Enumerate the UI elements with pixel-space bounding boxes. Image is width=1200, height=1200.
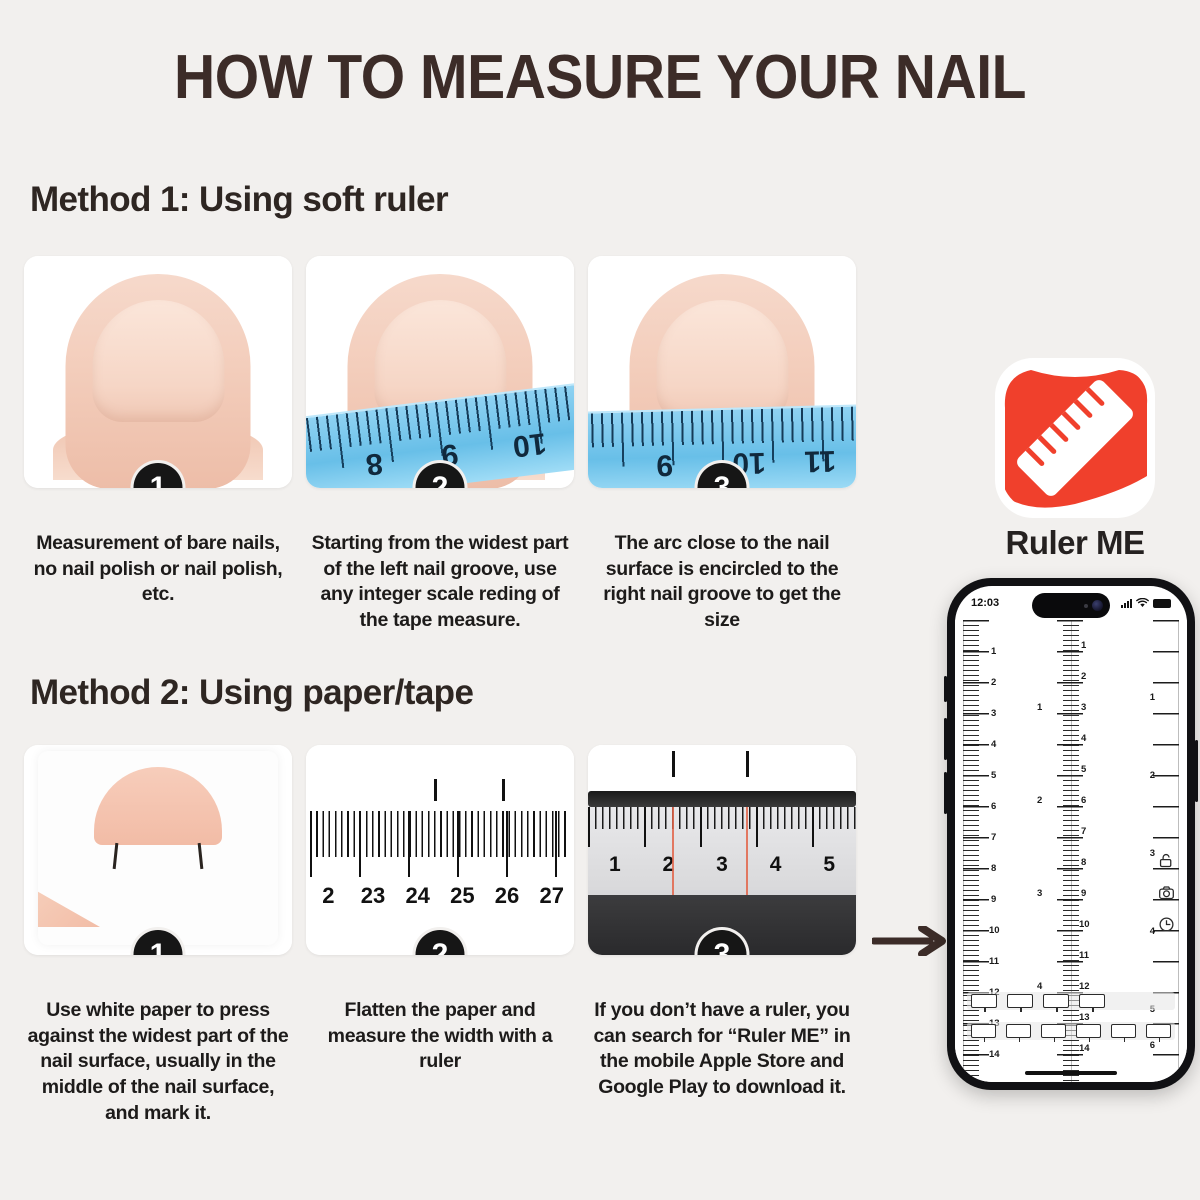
- measurement-widgets: [967, 992, 1175, 1052]
- step-caption: Starting from the widest part of the lef…: [306, 531, 574, 634]
- mute-switch[interactable]: [944, 676, 947, 702]
- measure-chip[interactable]: [1146, 1024, 1171, 1038]
- scale-number: 3: [991, 708, 996, 719]
- method-1-steps-row: 1 Measurement of bare nails, no nail pol…: [24, 256, 864, 634]
- infographic-page: HOW TO MEASURE YOUR NAIL Method 1: Using…: [0, 0, 1200, 1200]
- scale-number: 1: [1081, 640, 1086, 651]
- scale-number: 5: [1081, 764, 1086, 775]
- page-title: HOW TO MEASURE YOUR NAIL: [48, 42, 1152, 113]
- history-icon[interactable]: [1158, 916, 1175, 933]
- finger-corner: [38, 883, 100, 927]
- scale-number: 4: [1081, 733, 1086, 744]
- scale-number: 10: [1079, 919, 1090, 930]
- scale-number: 11: [1079, 950, 1089, 961]
- mark-pin: [502, 779, 505, 801]
- phone-screen: 12:03: [955, 586, 1187, 1082]
- dynamic-island: [1032, 593, 1110, 618]
- ruler-major-ticks: [310, 811, 570, 877]
- front-camera-icon: [1092, 600, 1103, 611]
- scale-number: 9: [991, 894, 996, 905]
- measure-chip[interactable]: [1076, 1024, 1101, 1038]
- ruler-number: 4: [749, 853, 803, 877]
- scale-number-alt: 1: [1037, 702, 1042, 713]
- step-card-m1-1: 1 Measurement of bare nails, no nail pol…: [24, 256, 292, 634]
- scale-number: 12: [1079, 981, 1090, 992]
- ruler-number: 3: [695, 853, 749, 877]
- scale-number: 11: [989, 956, 999, 967]
- photo-tape-on-nail-end: 9 10 11 3: [588, 256, 856, 488]
- nail-impression: [94, 767, 222, 845]
- photo-flat-ruler: 2 23 24 25 26 27 2: [306, 745, 574, 955]
- ruler-major-ticks: [588, 807, 856, 847]
- step-card-m2-1: 1 Use white paper to press against the w…: [24, 745, 292, 1127]
- battery-icon: [1153, 599, 1171, 608]
- scale-number: 2: [991, 677, 996, 688]
- ruler-numbers: 1 2 3 4 5: [588, 853, 856, 877]
- phone-ruler-illustration: 1 2 3 4 5: [588, 745, 856, 955]
- camera-icon[interactable]: [1158, 884, 1175, 901]
- scale-number: 6: [1081, 795, 1086, 806]
- photo-bare-nail: 1: [24, 256, 292, 488]
- photo-paper-press: 1: [24, 745, 292, 955]
- scale-number: 9: [1081, 888, 1086, 899]
- step-card-m2-2: 2 23 24 25 26 27 2 Flatten the paper and…: [306, 745, 574, 1127]
- scale-number: 3: [1081, 702, 1086, 713]
- scale-number: 7: [1081, 826, 1086, 837]
- step-caption: The arc close to the nail surface is enc…: [588, 531, 856, 634]
- measure-chip[interactable]: [1006, 1024, 1031, 1038]
- sensor-dot: [1084, 604, 1088, 608]
- method-2-steps-row: 1 Use white paper to press against the w…: [24, 745, 864, 1127]
- step-card-m1-3: 9 10 11 3 The arc close to the nail surf…: [588, 256, 856, 634]
- measure-chip[interactable]: [1079, 994, 1105, 1008]
- scale-number: 8: [1081, 857, 1086, 868]
- tape-number: 9: [656, 447, 674, 481]
- scale-number: 1: [991, 646, 996, 657]
- ruler-number: 23: [351, 883, 396, 909]
- step-caption: Flatten the paper and measure the width …: [306, 998, 574, 1075]
- scale-number-alt: 4: [1037, 981, 1042, 992]
- measure-chip[interactable]: [1043, 994, 1069, 1008]
- lock-icon[interactable]: [1158, 852, 1175, 869]
- paper-sheet: [38, 751, 278, 945]
- measure-chip[interactable]: [971, 1024, 996, 1038]
- home-indicator[interactable]: [1025, 1071, 1117, 1075]
- scale-number: 10: [989, 925, 1000, 936]
- thumb-illustration: 9 10 11: [588, 256, 856, 488]
- ruler-number: 27: [529, 883, 574, 909]
- status-icons: [1121, 598, 1171, 608]
- ruler-number: 25: [440, 883, 485, 909]
- device-edge: [588, 791, 856, 807]
- scale-number: 4: [1150, 926, 1155, 937]
- app-name-label: Ruler ME: [950, 524, 1200, 562]
- measure-chip[interactable]: [1041, 1024, 1066, 1038]
- ruler-number: 24: [395, 883, 440, 909]
- step-card-m2-3: 1 2 3 4 5 3 If you don’t have a ruler, y…: [588, 745, 856, 1127]
- ruler-number: 1: [588, 853, 642, 877]
- measure-chip[interactable]: [971, 994, 997, 1008]
- ruler-numbers: 2 23 24 25 26 27: [306, 883, 574, 909]
- phone-mockup: 12:03: [947, 578, 1195, 1090]
- volume-up-button[interactable]: [944, 718, 947, 760]
- step-caption: If you don’t have a ruler, you can searc…: [588, 998, 856, 1101]
- finger-shape: [66, 274, 251, 488]
- ruler-number: 26: [485, 883, 530, 909]
- cellular-signal-icon: [1121, 599, 1132, 608]
- measure-chip[interactable]: [1007, 994, 1033, 1008]
- scale-number: 7: [991, 832, 996, 843]
- mark-pin: [434, 779, 437, 801]
- ruler-number: 2: [306, 883, 351, 909]
- photo-tape-on-nail-start: 8 9 10 2: [306, 256, 574, 488]
- scale-number: 8: [991, 863, 996, 874]
- mark-right: [198, 843, 204, 869]
- thumb-illustration: [24, 256, 292, 488]
- method-1-heading: Method 1: Using soft ruler: [30, 180, 448, 220]
- power-button[interactable]: [1195, 740, 1198, 802]
- widget-row[interactable]: [967, 992, 1175, 1010]
- ruler-app-icon[interactable]: [995, 358, 1155, 518]
- wifi-icon: [1136, 598, 1149, 608]
- volume-down-button[interactable]: [944, 772, 947, 814]
- tape-number: 10: [511, 425, 548, 463]
- widget-row[interactable]: [967, 1022, 1175, 1040]
- ruler-scale: 1 2 3 4 5: [588, 807, 856, 895]
- scale-number: 4: [991, 739, 996, 750]
- tape-number: 11: [804, 443, 837, 478]
- status-bar: 12:03: [955, 586, 1187, 620]
- paper-illustration: [24, 745, 292, 955]
- scale-number: 6: [991, 801, 996, 812]
- nail-shape: [656, 300, 788, 422]
- ruler-number: 2: [642, 853, 696, 877]
- status-time: 12:03: [971, 597, 999, 609]
- measure-chip[interactable]: [1111, 1024, 1136, 1038]
- step-caption: Measurement of bare nails, no nail polis…: [24, 531, 292, 608]
- app-tool-buttons: [1158, 852, 1175, 933]
- mark-left: [113, 843, 119, 869]
- scale-number: 1: [1150, 692, 1155, 703]
- thumb-illustration: 8 9 10: [306, 256, 574, 488]
- ruler-app-canvas[interactable]: 1 2 3 4 5 6 7 8 9 10 11 12 13 14: [955, 620, 1187, 1082]
- scale-number: 2: [1081, 671, 1086, 682]
- method-2-heading: Method 2: Using paper/tape: [30, 673, 473, 713]
- mark-pin: [672, 751, 675, 777]
- scale-number-alt: 3: [1037, 888, 1042, 899]
- step-caption: Use white paper to press against the wid…: [24, 998, 292, 1127]
- right-arrow-icon: [872, 926, 950, 956]
- step-card-m1-2: 8 9 10 2 Starting from the widest part o…: [306, 256, 574, 634]
- scale-number: 3: [1150, 848, 1155, 859]
- scale-number-alt: 2: [1037, 795, 1042, 806]
- ruler-band: 2 23 24 25 26 27: [306, 811, 574, 907]
- scale-number: 5: [991, 770, 996, 781]
- ruler-illustration: 2 23 24 25 26 27: [306, 745, 574, 955]
- paper-top: [588, 745, 856, 791]
- nail-shape: [92, 300, 224, 422]
- scale-number: 2: [1150, 770, 1155, 781]
- photo-phone-ruler: 1 2 3 4 5 3: [588, 745, 856, 955]
- ruler-number: 5: [802, 853, 856, 877]
- mark-pin: [746, 751, 749, 777]
